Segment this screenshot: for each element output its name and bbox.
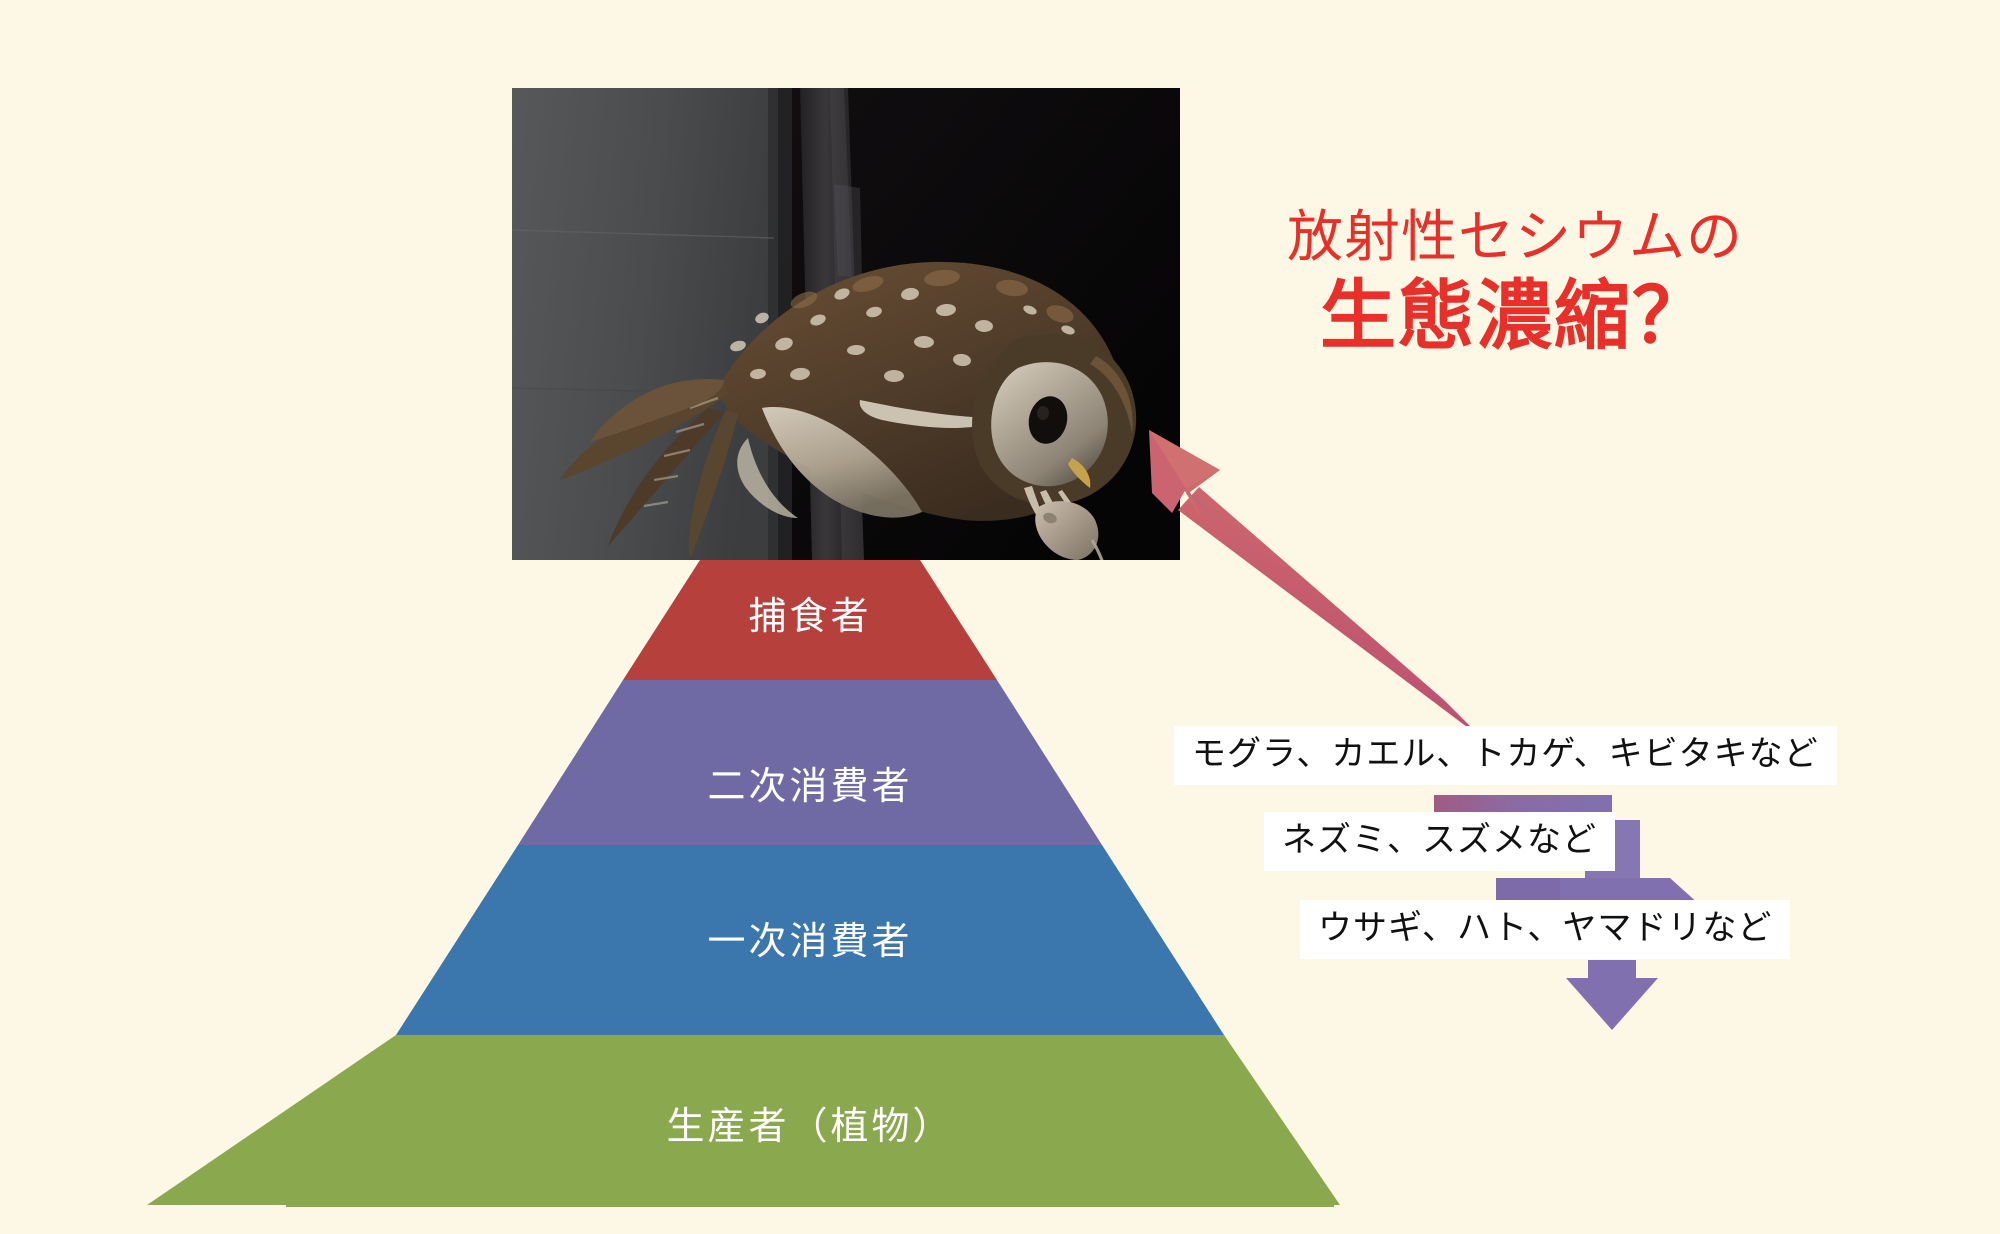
pyramid-label-predator: 捕食者 <box>510 585 1110 640</box>
pyramid-label-secondary-consumer: 二次消費者 <box>510 755 1110 810</box>
slide-title: 放射性セシウムの 生態濃縮？ <box>1255 208 1775 357</box>
pyramid-label-producer: 生産者（植物） <box>510 1095 1110 1150</box>
title-line-2: 生態濃縮？ <box>1255 277 1775 357</box>
callout-secondary-consumer-examples: モグラ、カエル、トカゲ、キビタキなど <box>1174 726 1837 785</box>
pyramid-label-primary-consumer: 一次消費者 <box>510 910 1110 965</box>
callout-primary-consumer-examples-1: ネズミ、スズメなど <box>1264 812 1615 871</box>
title-line-1: 放射性セシウムの <box>1255 208 1775 267</box>
slide-canvas: 捕食者 二次消費者 一次消費者 生産者（植物） モグラ、カエル、トカゲ、キビタキ… <box>0 0 2000 1234</box>
callout-primary-consumer-examples-2: ウサギ、ハト、ヤマドリなど <box>1300 900 1790 959</box>
